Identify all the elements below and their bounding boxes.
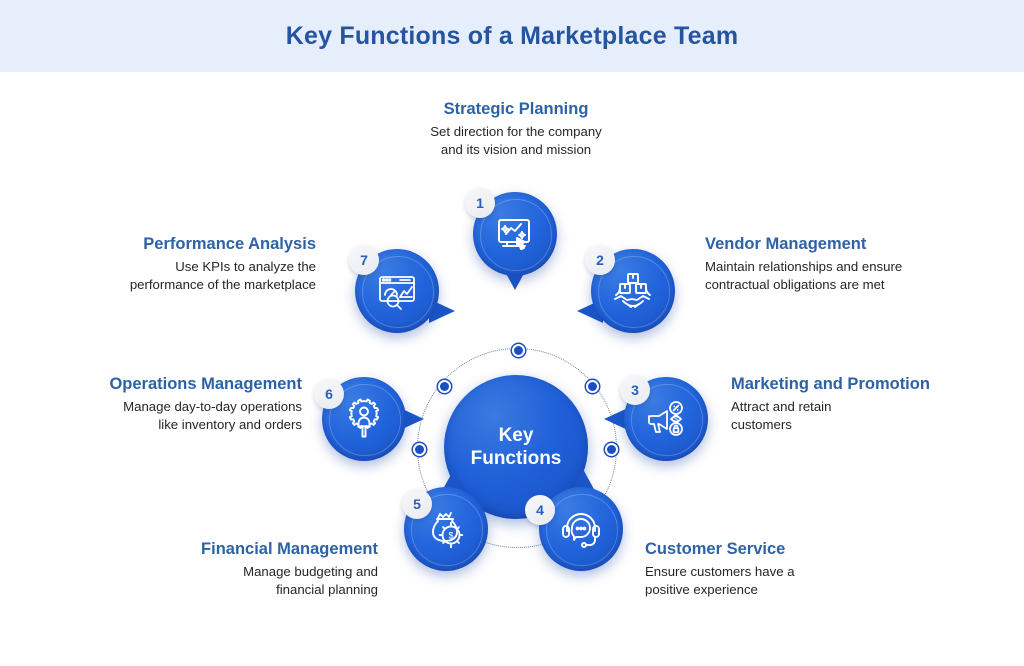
node-desc: Use KPIs to analyze the performance of t… — [16, 258, 316, 294]
node-badge: 4 — [525, 495, 555, 525]
node-desc: Maintain relationships and ensure contra… — [705, 258, 1005, 294]
node-title: Strategic Planning — [366, 100, 666, 119]
node-desc: Set direction for the company and its vi… — [366, 123, 666, 159]
node-desc-line1: Use KPIs to analyze the — [175, 259, 316, 274]
node-badge: 5 — [402, 489, 432, 519]
label-customer-service: Customer Service Ensure customers have a… — [645, 540, 945, 599]
node-desc-line1: Manage day-to-day operations — [123, 399, 302, 414]
label-financial-management: Financial Management Manage budgeting an… — [78, 540, 378, 599]
node-badge: 3 — [620, 375, 650, 405]
node-badge: 7 — [349, 245, 379, 275]
node-title: Financial Management — [78, 540, 378, 559]
hub-line-1: Key — [499, 425, 534, 446]
node-desc: Manage day-to-day operations like invent… — [2, 398, 302, 434]
label-vendor-management: Vendor Management Maintain relationships… — [705, 235, 1005, 294]
node-desc: Manage budgeting and financial planning — [78, 563, 378, 599]
node-badge: 1 — [465, 188, 495, 218]
node-desc-line2: financial planning — [276, 582, 378, 597]
ring-dot-7 — [438, 380, 451, 393]
node-badge: 6 — [314, 379, 344, 409]
node-desc-line2: like inventory and orders — [158, 417, 302, 432]
hub-line-2: Functions — [471, 448, 562, 469]
node-desc-line1: Attract and retain — [731, 399, 831, 414]
header-band: Key Functions of a Marketplace Team — [0, 0, 1024, 72]
node-vendor-management[interactable]: 2 — [591, 249, 675, 333]
label-performance-analysis: Performance Analysis Use KPIs to analyze… — [16, 235, 316, 294]
node-performance-analysis[interactable]: 7 — [355, 249, 439, 333]
node-desc-line1: Set direction for the company — [430, 124, 602, 139]
node-marketing-promotion[interactable]: $ 3 — [624, 377, 708, 461]
node-desc: Ensure customers have a positive experie… — [645, 563, 945, 599]
ring-dot-1 — [512, 344, 525, 357]
node-customer-service[interactable]: 4 — [539, 487, 623, 571]
ring-dot-3 — [605, 443, 618, 456]
node-desc-line2: performance of the marketplace — [130, 277, 316, 292]
node-desc-line2: contractual obligations are met — [705, 277, 885, 292]
label-operations-management: Operations Management Manage day-to-day … — [2, 375, 302, 434]
node-desc-line2: positive experience — [645, 582, 758, 597]
node-desc-line2: and its vision and mission — [441, 142, 591, 157]
node-title: Customer Service — [645, 540, 945, 559]
ring-dot-2 — [586, 380, 599, 393]
node-desc-line1: Ensure customers have a — [645, 564, 795, 579]
node-operations-management[interactable]: 6 — [322, 377, 406, 461]
node-desc: Attract and retain customers — [731, 398, 1024, 434]
ring-dot-6 — [413, 443, 426, 456]
node-title: Operations Management — [2, 375, 302, 394]
label-marketing-promotion: Marketing and Promotion Attract and reta… — [731, 375, 1024, 434]
node-strategic-planning[interactable]: 1 — [473, 192, 557, 276]
node-title: Vendor Management — [705, 235, 1005, 254]
infographic-canvas: Key Functions 1 Strategic Planning Set d… — [0, 72, 1024, 666]
node-badge: 2 — [585, 245, 615, 275]
node-desc-line1: Manage budgeting and — [243, 564, 378, 579]
page-title: Key Functions of a Marketplace Team — [286, 22, 739, 51]
node-title: Marketing and Promotion — [731, 375, 1024, 394]
node-title: Performance Analysis — [16, 235, 316, 254]
svg-text:$: $ — [448, 530, 453, 540]
center-hub-label: Key Functions — [471, 424, 562, 470]
label-strategic-planning: Strategic Planning Set direction for the… — [366, 100, 666, 159]
node-desc-line2: customers — [731, 417, 792, 432]
node-desc-line1: Maintain relationships and ensure — [705, 259, 902, 274]
node-financial-management[interactable]: $ 5 — [404, 487, 488, 571]
